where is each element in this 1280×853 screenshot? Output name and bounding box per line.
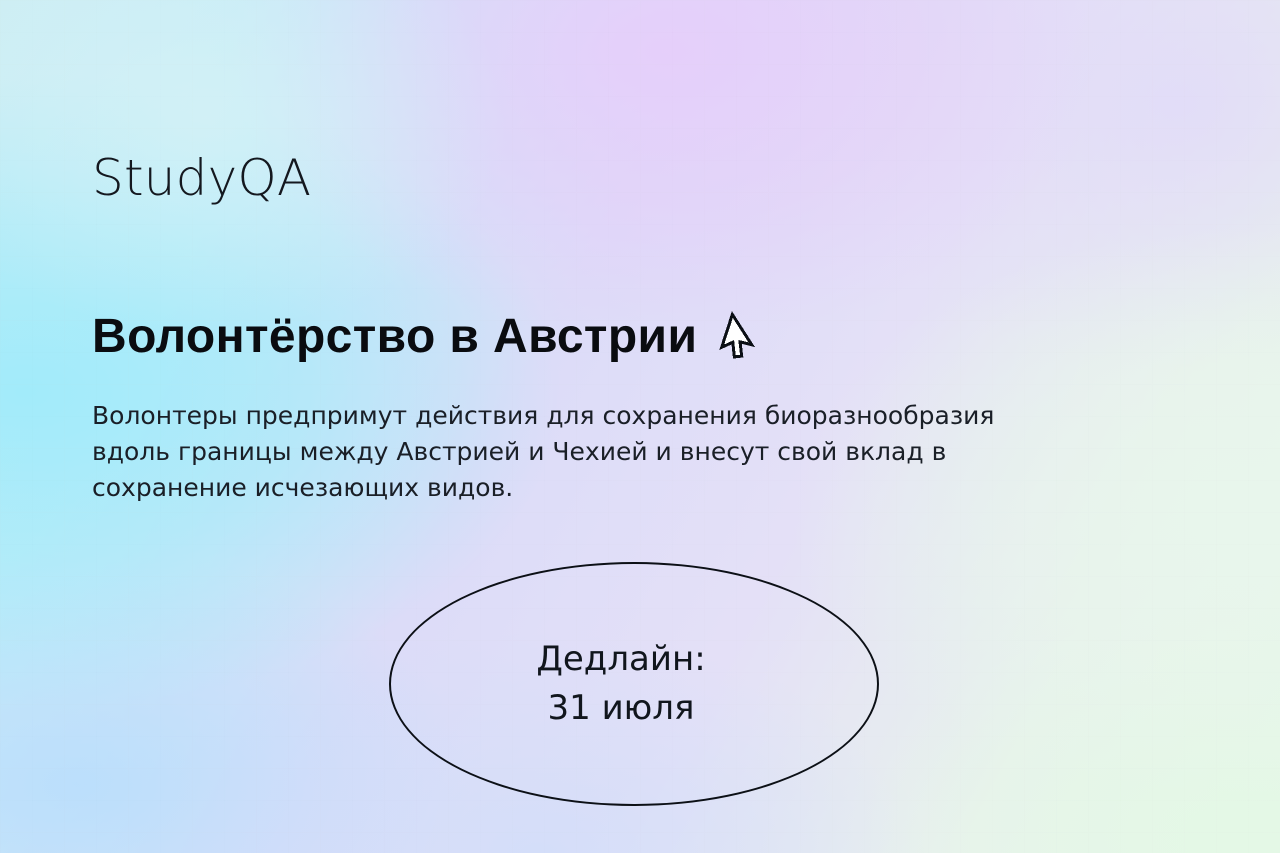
page-title: Волонтёрство в Австрии [92, 312, 697, 362]
headline-row: Волонтёрство в Австрии [92, 310, 767, 364]
poster-canvas: StudyQA Волонтёрство в Австрии Волонтеры… [0, 0, 1280, 853]
brand-logo-studyqa: StudyQA [92, 153, 311, 203]
description-line-1: Волонтеры предпримут действия для сохран… [92, 398, 1122, 434]
description-text: Волонтеры предпримут действия для сохран… [92, 398, 1122, 506]
poster-content: StudyQA Волонтёрство в Австрии Волонтеры… [0, 0, 1280, 853]
deadline-text: Дедлайн: 31 июля [389, 635, 879, 733]
description-line-3: сохранение исчезающих видов. [92, 470, 1122, 506]
mouse-cursor-arrow-icon [713, 310, 773, 370]
description-line-2: вдоль границы между Австрией и Чехией и … [92, 434, 1122, 470]
deadline-badge: Дедлайн: 31 июля [389, 562, 879, 806]
deadline-label: Дедлайн: [389, 635, 853, 684]
deadline-date: 31 июля [389, 684, 853, 733]
